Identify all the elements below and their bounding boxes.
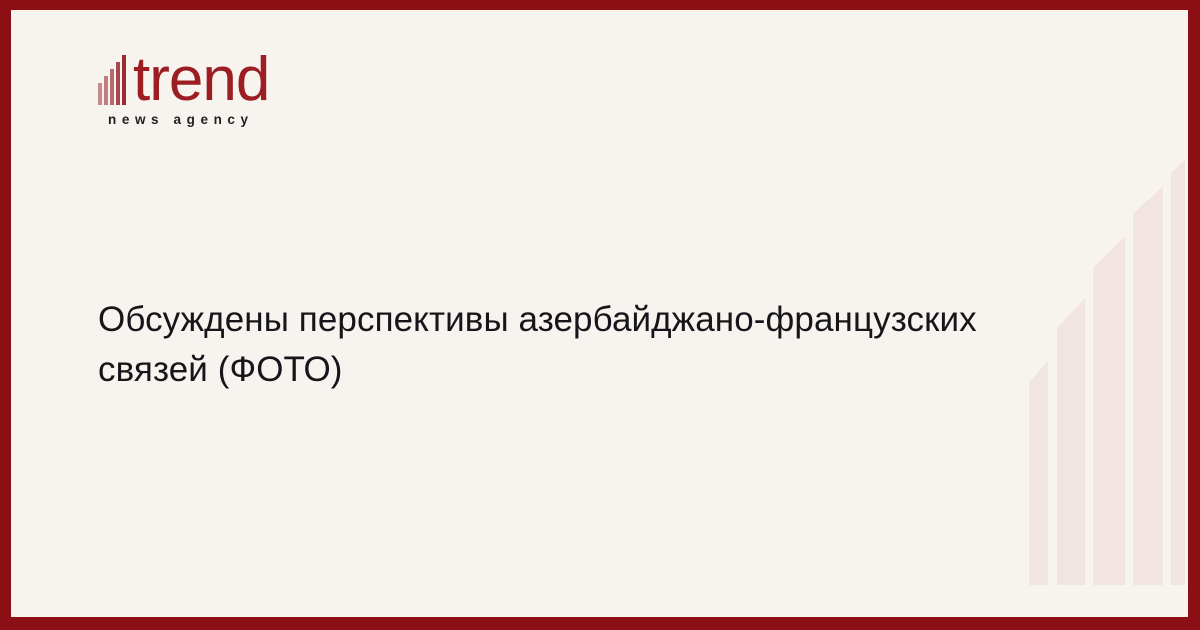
watermark-bar-5 <box>1171 160 1185 585</box>
watermark-bar-1 <box>1029 361 1048 585</box>
card-canvas: trend news agency Обсуждены перспективы … <box>11 10 1188 617</box>
ascending-bars-icon <box>98 55 134 105</box>
watermark-bar-3 <box>1093 236 1125 585</box>
trend-logo[interactable]: trend news agency <box>98 48 358 138</box>
watermark-bars-svg <box>1015 10 1185 617</box>
ascending-bars-watermark <box>1015 10 1185 617</box>
logo-wordmark: trend <box>133 53 269 106</box>
watermark-bar-4 <box>1133 186 1163 585</box>
watermark-bar-2 <box>1057 298 1085 585</box>
page-title: Обсуждены перспективы азербайджано-франц… <box>98 295 978 394</box>
share-card: trend news agency Обсуждены перспективы … <box>0 0 1200 630</box>
logo-tagline: news agency <box>108 112 358 127</box>
logo-mark: trend <box>98 48 358 106</box>
